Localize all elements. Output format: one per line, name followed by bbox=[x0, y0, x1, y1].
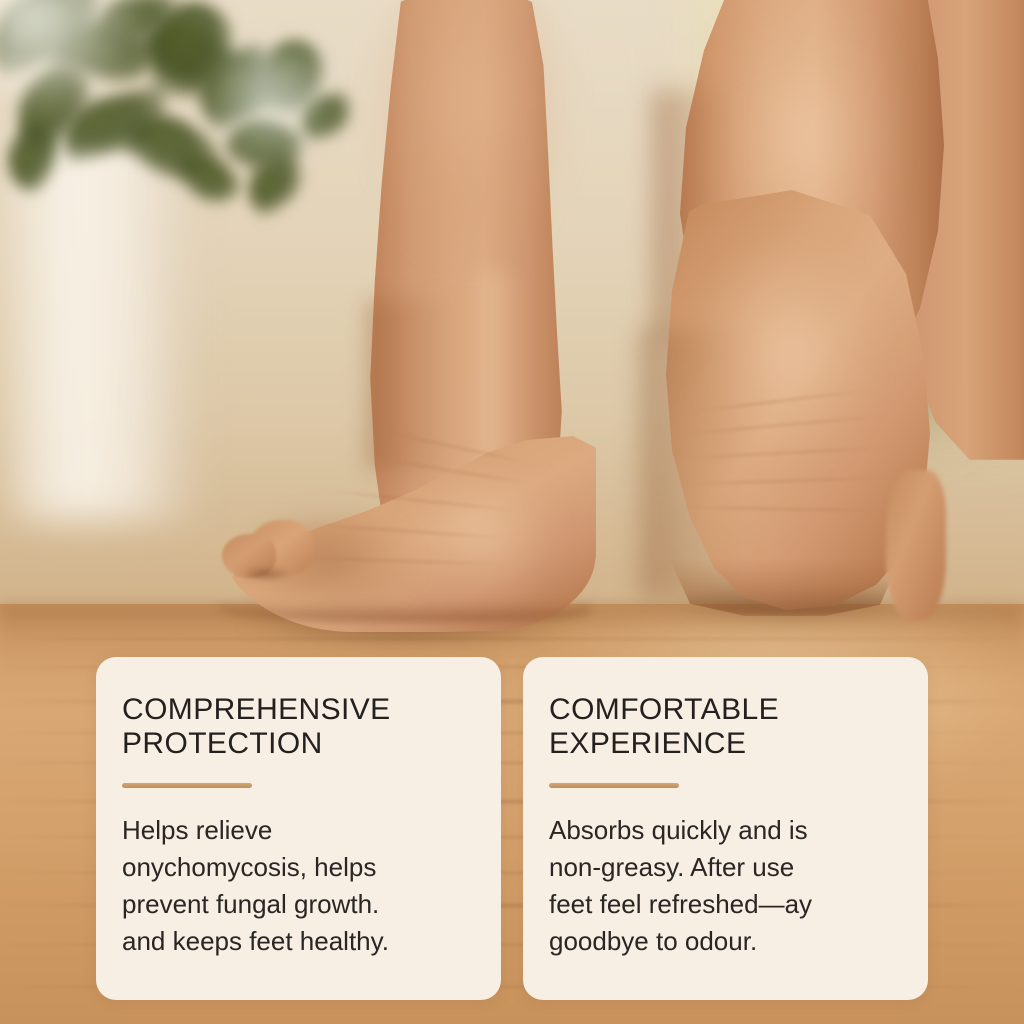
product-feature-graphic: COMPREHENSIVE PROTECTION Helps relieve o… bbox=[0, 0, 1024, 1024]
feature-card-accent-rule bbox=[122, 783, 252, 788]
feature-cards: COMPREHENSIVE PROTECTION Helps relieve o… bbox=[96, 657, 928, 1000]
right-foot-toes bbox=[886, 470, 946, 620]
feature-card-comprehensive-protection: COMPREHENSIVE PROTECTION Helps relieve o… bbox=[96, 657, 501, 1000]
feature-card-title: COMPREHENSIVE PROTECTION bbox=[122, 693, 475, 761]
left-achilles-highlight bbox=[470, 270, 522, 470]
feature-card-comfortable-experience: COMFORTABLE EXPERIENCE Absorbs quickly a… bbox=[523, 657, 928, 1000]
feature-card-accent-rule bbox=[549, 783, 679, 788]
feature-card-title: COMFORTABLE EXPERIENCE bbox=[549, 693, 902, 761]
feature-card-body: Absorbs quickly and is non-greasy. After… bbox=[549, 812, 902, 960]
feature-card-body: Helps relieve onychomycosis, helps preve… bbox=[122, 812, 475, 960]
